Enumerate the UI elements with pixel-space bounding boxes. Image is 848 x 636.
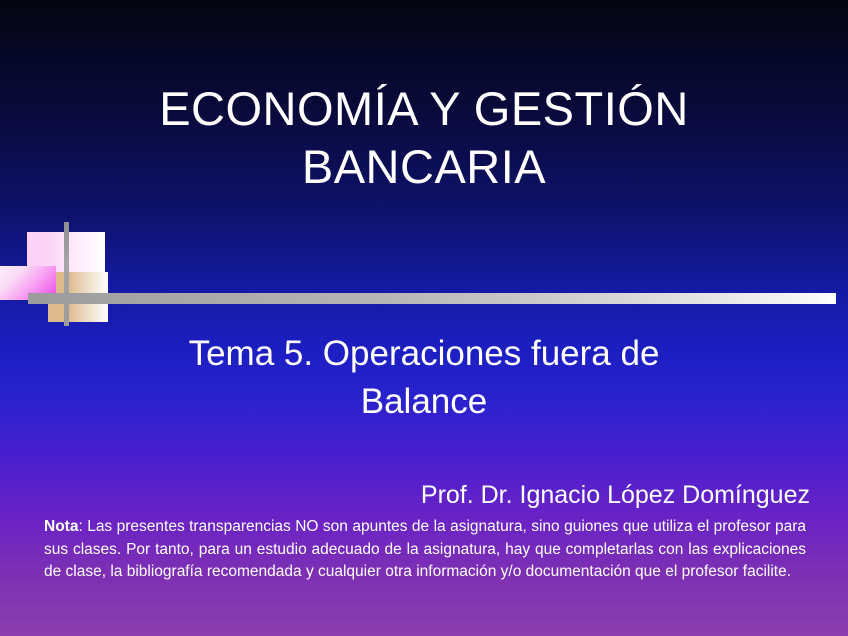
slide-note: Nota: Las presentes transparencias NO so… bbox=[44, 516, 806, 584]
deco-pink-rectangle bbox=[27, 232, 105, 276]
deco-tan-rectangle bbox=[48, 272, 108, 322]
slide-note-body: : Las presentes transparencias NO son ap… bbox=[44, 518, 806, 580]
slide-note-label: Nota bbox=[44, 518, 78, 535]
slide-title: ECONOMÍA Y GESTIÓN BANCARIA bbox=[40, 80, 808, 196]
slide-author: Prof. Dr. Ignacio López Domínguez bbox=[48, 480, 810, 510]
presentation-slide: ECONOMÍA Y GESTIÓN BANCARIA Tema 5. Oper… bbox=[0, 0, 848, 636]
deco-horizontal-rule bbox=[28, 293, 836, 304]
slide-subtitle: Tema 5. Operaciones fuera de Balance bbox=[104, 330, 744, 426]
deco-magenta-rectangle bbox=[0, 266, 56, 300]
deco-vertical-rule bbox=[64, 222, 69, 326]
